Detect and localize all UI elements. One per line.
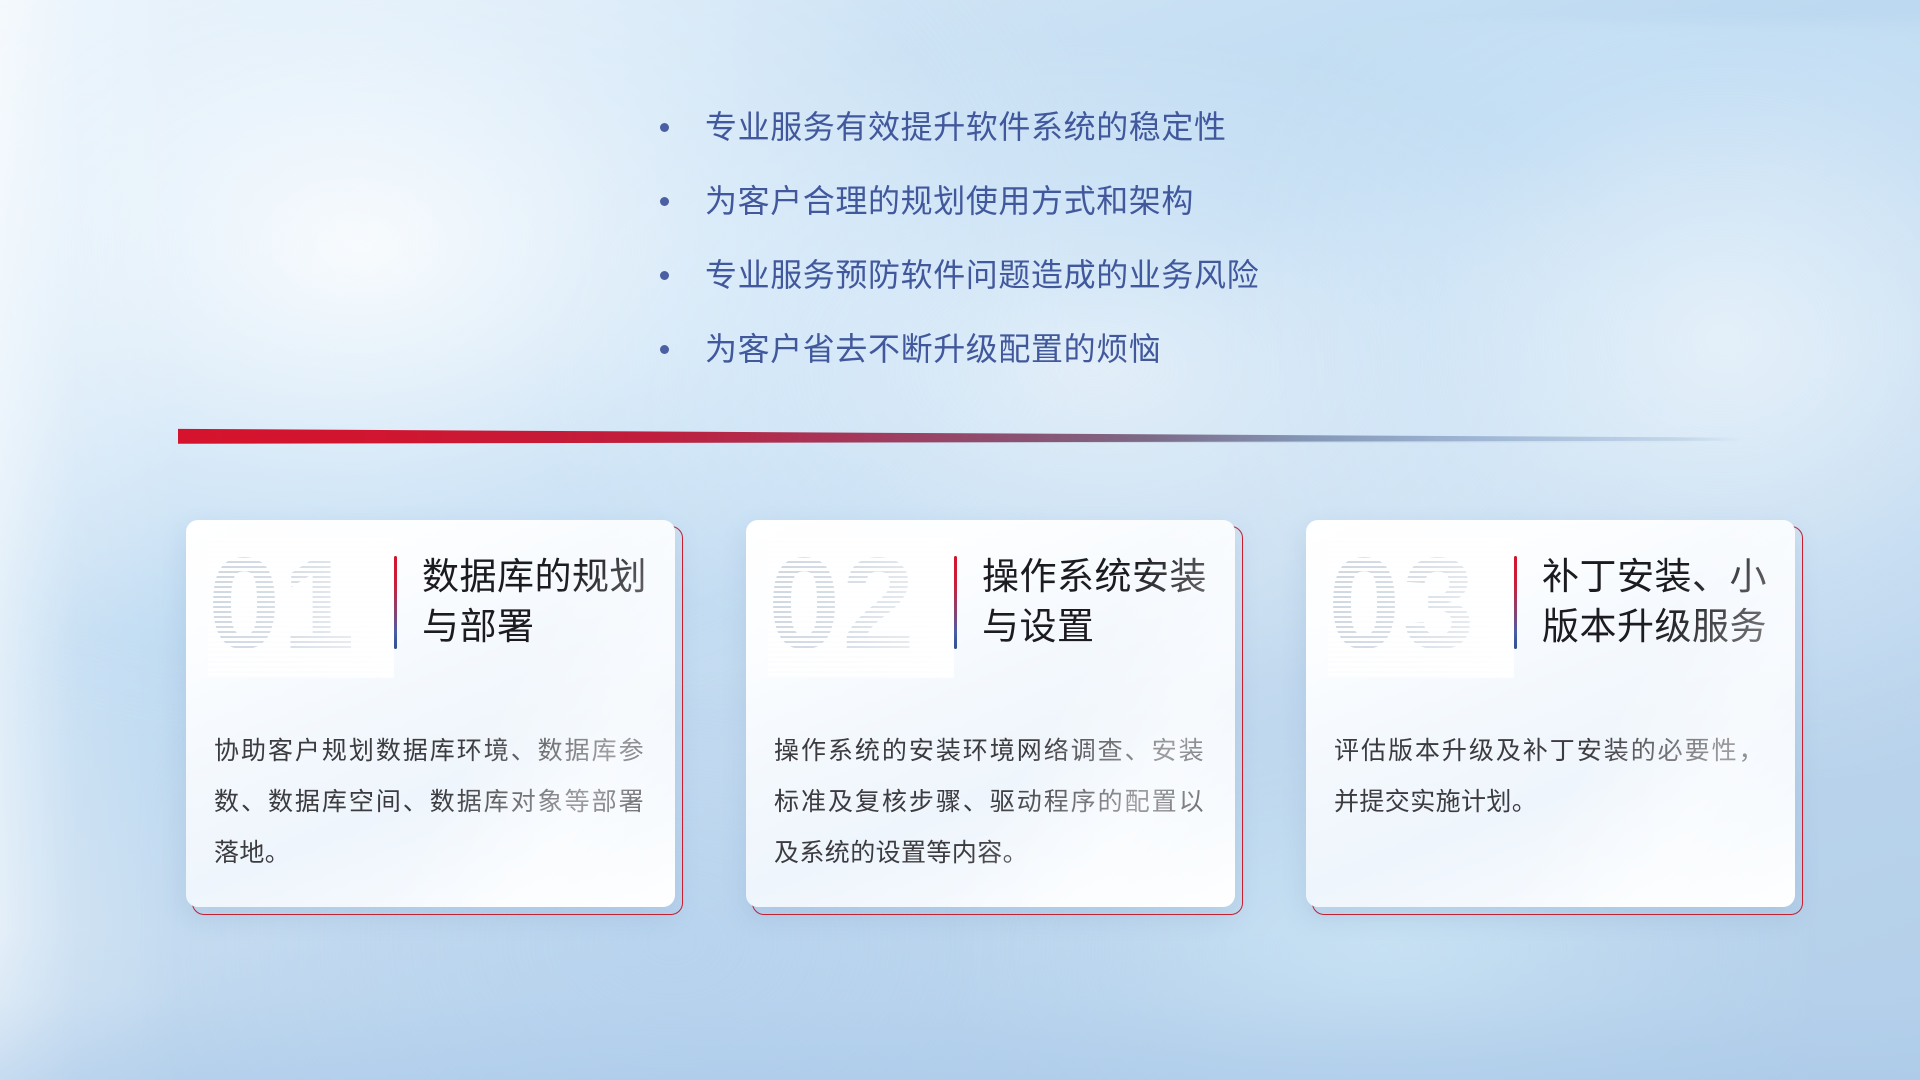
card-surface: 03 补丁安装、小版本升级服务 评估版本升级及补丁安装的必要性，并提交实施计划。 xyxy=(1306,520,1795,907)
card-surface: 01 数据库的规划与部署 协助客户规划数据库环境、数据库参数、数据库空间、数据库… xyxy=(186,520,675,907)
card-header: 02 操作系统安装与设置 xyxy=(746,548,1235,678)
card-accent-rule xyxy=(394,556,397,649)
list-item: 专业服务有效提升软件系统的稳定性 xyxy=(660,105,1560,149)
card-accent-rule xyxy=(954,556,957,649)
list-item: 为客户省去不断升级配置的烦恼 xyxy=(660,327,1560,371)
card-group: 01 数据库的规划与部署 协助客户规划数据库环境、数据库参数、数据库空间、数据库… xyxy=(186,520,1803,915)
card-number-text: 03 xyxy=(1328,538,1477,668)
card-number-text: 02 xyxy=(768,538,917,668)
bullet-text: 专业服务预防软件问题造成的业务风险 xyxy=(705,253,1259,297)
bullet-text: 为客户合理的规划使用方式和架构 xyxy=(705,179,1194,223)
bullet-text: 专业服务有效提升软件系统的稳定性 xyxy=(705,105,1227,149)
card-description: 协助客户规划数据库环境、数据库参数、数据库空间、数据库对象等部署落地。 xyxy=(214,726,644,879)
background-streak-left xyxy=(0,0,180,1080)
card-surface: 02 操作系统安装与设置 操作系统的安装环境网络调查、安装标准及复核步骤、驱动程… xyxy=(746,520,1235,907)
card-title: 补丁安装、小版本升级服务 xyxy=(1542,548,1795,652)
card-number-watermark: 02 xyxy=(768,548,954,668)
card-description: 评估版本升级及补丁安装的必要性，并提交实施计划。 xyxy=(1334,726,1764,828)
background-streak-bottom xyxy=(0,930,1920,1080)
card-title: 操作系统安装与设置 xyxy=(982,548,1235,652)
card-title: 数据库的规划与部署 xyxy=(422,548,675,652)
card-number-text: 01 xyxy=(208,538,357,668)
feature-card[interactable]: 01 数据库的规划与部署 协助客户规划数据库环境、数据库参数、数据库空间、数据库… xyxy=(186,520,683,915)
bullet-text: 为客户省去不断升级配置的烦恼 xyxy=(705,327,1161,371)
list-item: 为客户合理的规划使用方式和架构 xyxy=(660,179,1560,223)
bullet-dot-icon xyxy=(660,197,669,206)
bullet-dot-icon xyxy=(660,345,669,354)
bullet-list: 专业服务有效提升软件系统的稳定性 为客户合理的规划使用方式和架构 专业服务预防软… xyxy=(660,105,1560,401)
feature-card[interactable]: 02 操作系统安装与设置 操作系统的安装环境网络调查、安装标准及复核步骤、驱动程… xyxy=(746,520,1243,915)
card-number-watermark: 03 xyxy=(1328,548,1514,668)
feature-card[interactable]: 03 补丁安装、小版本升级服务 评估版本升级及补丁安装的必要性，并提交实施计划。 xyxy=(1306,520,1803,915)
bullet-dot-icon xyxy=(660,271,669,280)
list-item: 专业服务预防软件问题造成的业务风险 xyxy=(660,253,1560,297)
section-divider xyxy=(178,424,1744,446)
card-number-watermark: 01 xyxy=(208,548,394,668)
card-description: 操作系统的安装环境网络调查、安装标准及复核步骤、驱动程序的配置以及系统的设置等内… xyxy=(774,726,1204,879)
card-accent-rule xyxy=(1514,556,1517,649)
card-header: 03 补丁安装、小版本升级服务 xyxy=(1306,548,1795,678)
slide-canvas: 专业服务有效提升软件系统的稳定性 为客户合理的规划使用方式和架构 专业服务预防软… xyxy=(0,0,1920,1080)
bullet-dot-icon xyxy=(660,123,669,132)
card-header: 01 数据库的规划与部署 xyxy=(186,548,675,678)
